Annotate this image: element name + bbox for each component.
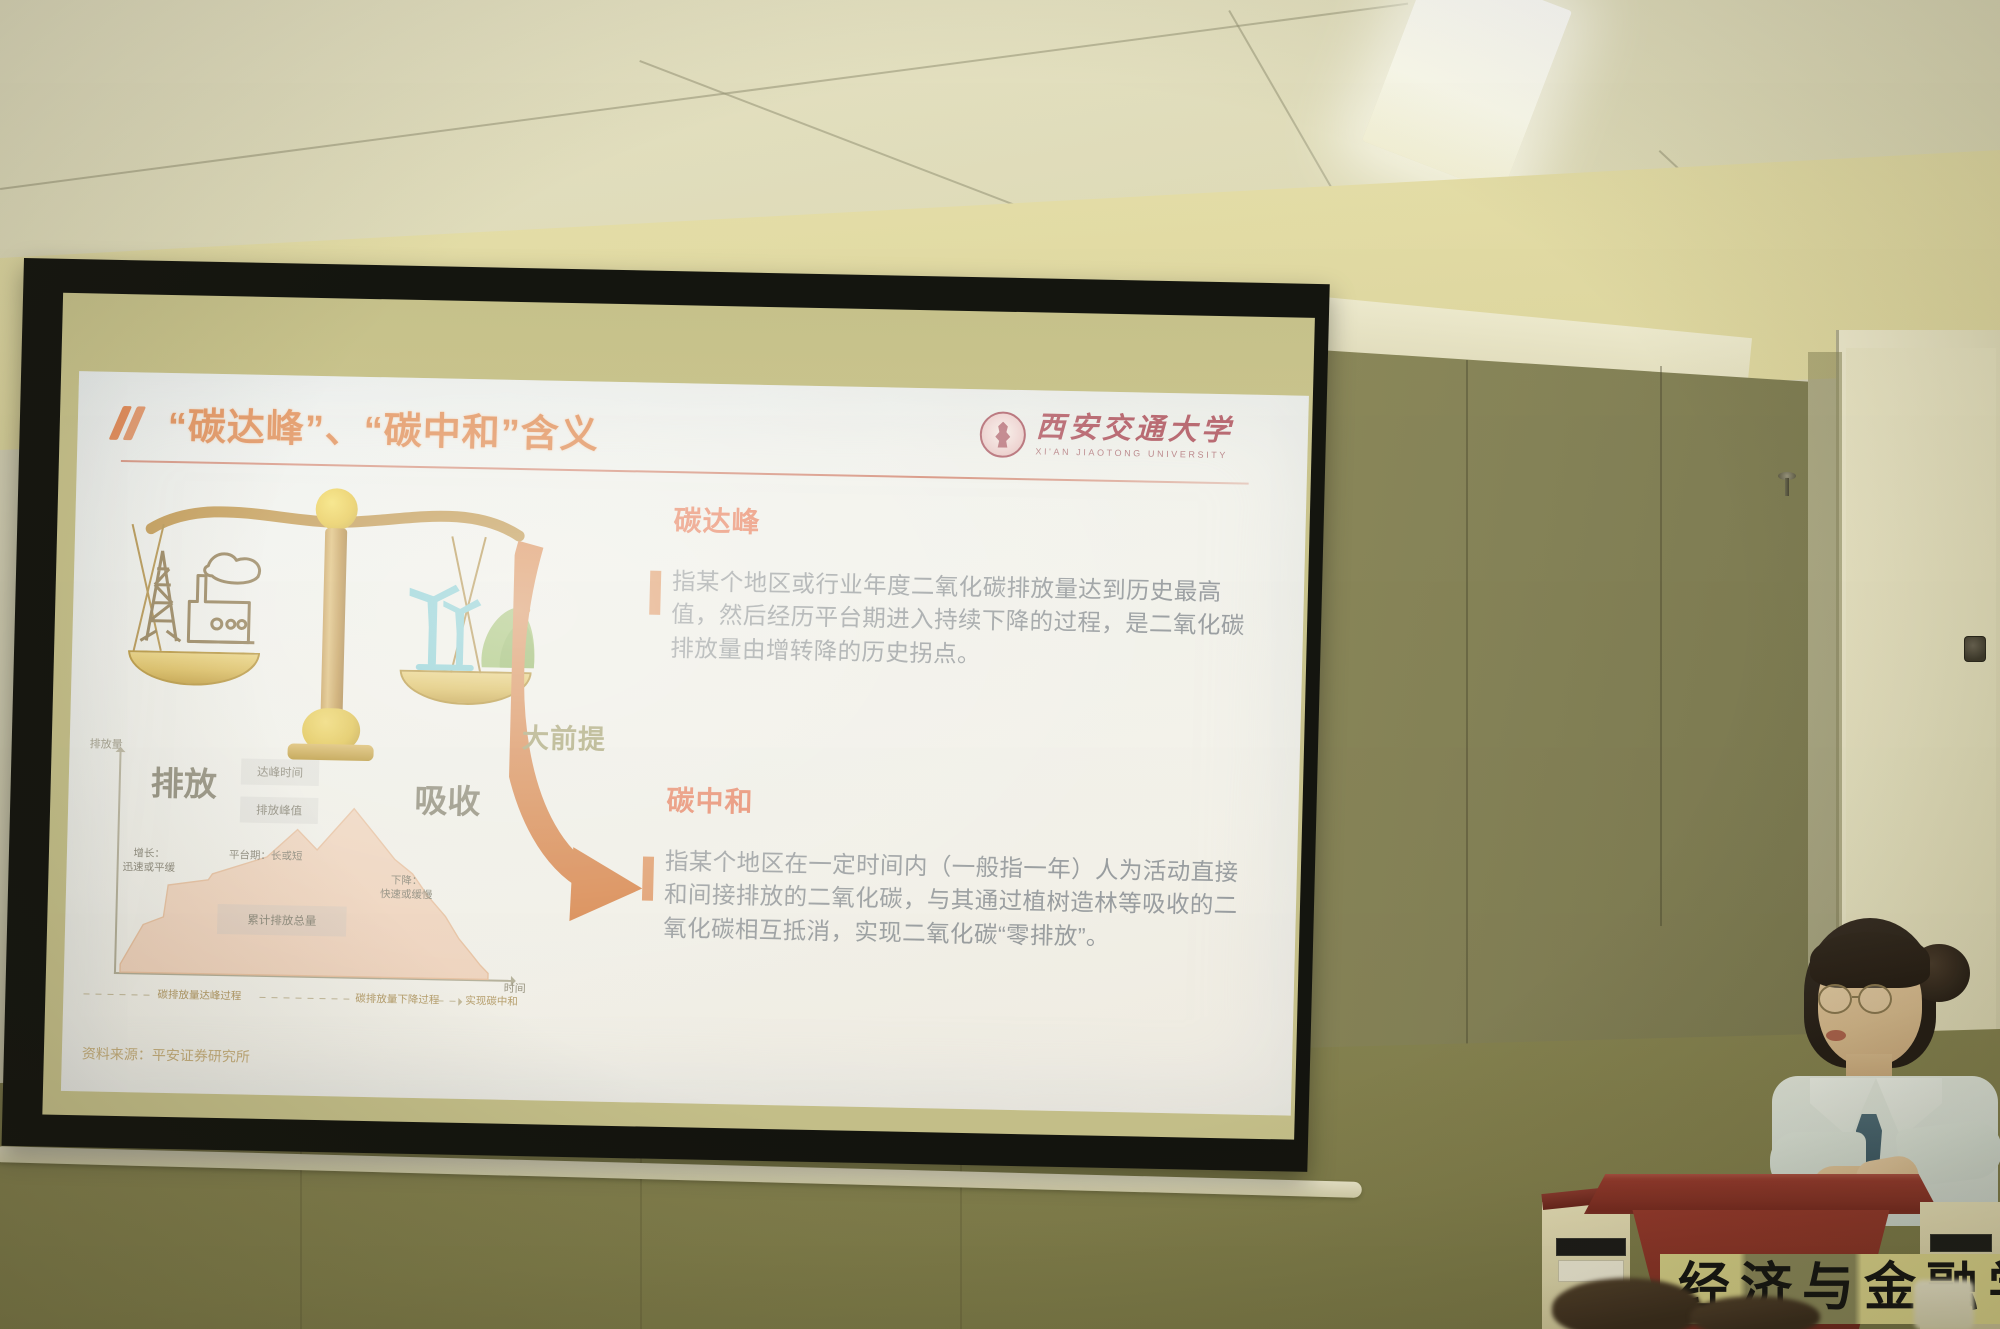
chart-decline-line1: 下降： bbox=[391, 874, 423, 887]
lecture-hall-photo: “碳达峰”、“碳中和”含义 西安交通大学 XI'AN JIAOTONG UNIV… bbox=[0, 0, 2000, 1329]
chart-annotation-plateau: 平台期：长或短 bbox=[229, 848, 303, 864]
logo-name-en: XI'AN JIAOTONG UNIVERSITY bbox=[1035, 446, 1228, 460]
door-knob-icon[interactable] bbox=[1964, 636, 1986, 662]
definition-heading: 碳中和 bbox=[666, 779, 1267, 831]
glasses-lens-left bbox=[1818, 984, 1852, 1014]
chart-phase-label: 碳排放量达峰过程 bbox=[157, 987, 241, 1004]
podium-equipment-label bbox=[1930, 1234, 1992, 1252]
glasses-icon bbox=[1818, 984, 1910, 1014]
chart-phase-dash-arrow bbox=[437, 1000, 459, 1001]
university-seal-icon bbox=[979, 411, 1026, 458]
chart-growth-line2: 迅速或平缓 bbox=[122, 861, 175, 874]
scale-pan-left bbox=[127, 650, 260, 687]
scale-column bbox=[320, 528, 347, 724]
chart-phase-label: 实现碳中和 bbox=[465, 993, 518, 1009]
definition-block-carbon-peak: 碳达峰 指某个地区或行业年度二氧化碳排放量达到历史最高值，然后经历平台期进入持续… bbox=[670, 499, 1274, 677]
logo-name-cn: 西安交通大学 bbox=[1036, 411, 1235, 447]
podium-desktop bbox=[1584, 1174, 1940, 1214]
chart-annotation-growth: 增长： 迅速或平缓 bbox=[122, 846, 175, 875]
title-accent-marks-icon bbox=[115, 406, 146, 441]
premise-label: 大前提 bbox=[522, 716, 607, 757]
chart-growth-line1: 增长： bbox=[133, 847, 165, 860]
chart-annotation-peak-time: 达峰时间 bbox=[241, 758, 320, 786]
wall-panel-seam bbox=[1660, 366, 1662, 926]
balance-scale-illustration: 排放 吸收 bbox=[131, 468, 537, 706]
definition-block-carbon-neutral: 碳中和 指某个地区在一定时间内（一般指一年）人为活动直接和间接排放的二氧化碳，与… bbox=[663, 779, 1267, 957]
source-note: 资料来源：平安证券研究所 bbox=[82, 1043, 250, 1066]
chart-phase-label: 碳排放量下降过程 bbox=[355, 991, 439, 1008]
definition-accent-bar bbox=[642, 857, 654, 901]
audience-head bbox=[1552, 1278, 1702, 1329]
presentation-slide: “碳达峰”、“碳中和”含义 西安交通大学 XI'AN JIAOTONG UNIV… bbox=[61, 371, 1309, 1115]
podium-equipment-label bbox=[1556, 1238, 1626, 1256]
chart-phase-axis: 碳排放量达峰过程 碳排放量下降过程 实现碳中和 bbox=[113, 986, 514, 1018]
mouth bbox=[1826, 1030, 1846, 1041]
audience-head bbox=[1690, 1296, 1820, 1329]
water-cup bbox=[1914, 1280, 1974, 1329]
chart-annotation-decline: 下降： 快速或缓慢 bbox=[380, 873, 433, 902]
university-logo: 西安交通大学 XI'AN JIAOTONG UNIVERSITY bbox=[979, 411, 1234, 462]
definition-heading: 碳达峰 bbox=[673, 499, 1274, 551]
emission-sources-icon bbox=[136, 544, 279, 659]
projection-screen: “碳达峰”、“碳中和”含义 西安交通大学 XI'AN JIAOTONG UNIV… bbox=[2, 258, 1330, 1172]
carbon-peak-chart: 排放量 时间 达峰时间 排放峰值 累计排放总量 增长： 迅速或平缓 平台期：长或… bbox=[76, 733, 536, 1042]
chart-decline-line2: 快速或缓慢 bbox=[380, 888, 433, 901]
chart-annotation-cumulative: 累计排放总量 bbox=[217, 904, 347, 937]
screen-surface: “碳达峰”、“碳中和”含义 西安交通大学 XI'AN JIAOTONG UNIV… bbox=[42, 293, 1315, 1140]
glasses-lens-right bbox=[1858, 984, 1892, 1014]
definition-accent-bar bbox=[649, 571, 661, 615]
chart-annotation-peak-value: 排放峰值 bbox=[240, 796, 319, 824]
page-title: “碳达峰”、“碳中和”含义 bbox=[167, 395, 599, 459]
chart-phase-dash bbox=[259, 997, 349, 1000]
hair-fringe bbox=[1810, 932, 1930, 988]
definition-body: 指某个地区在一定时间内（一般指一年）人为活动直接和间接排放的二氧化碳，与其通过植… bbox=[663, 845, 1245, 957]
fire-sprinkler-icon bbox=[1778, 472, 1796, 498]
definition-body: 指某个地区或行业年度二氧化碳排放量达到历史最高值，然后经历平台期进入持续下降的过… bbox=[670, 565, 1252, 677]
chart-phase-dash bbox=[83, 993, 153, 995]
